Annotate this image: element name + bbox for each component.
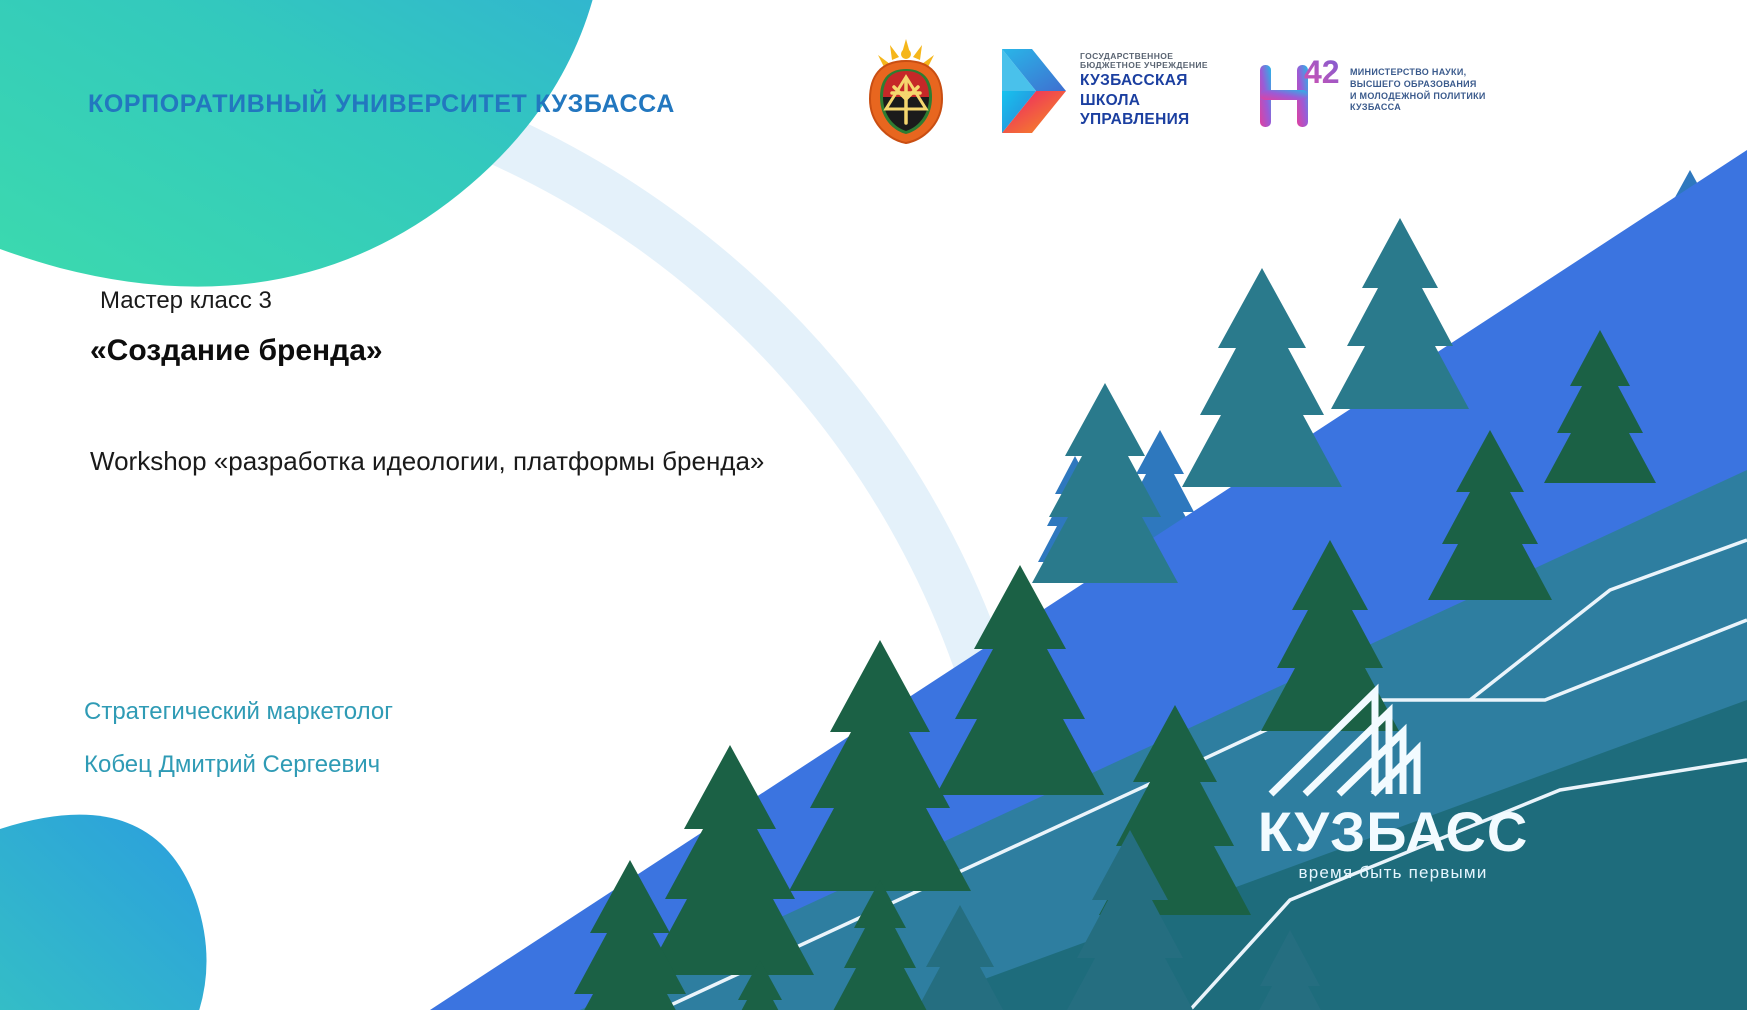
- mountain-peak-icon: [1271, 692, 1417, 794]
- school-name-line1: КУЗБАССКАЯ: [1080, 73, 1208, 89]
- slope-teal-band: [580, 470, 1747, 1010]
- school-name-line3: УПРАВЛЕНИЯ: [1080, 112, 1208, 128]
- coat-of-arms-icon: [860, 37, 952, 145]
- masterclass-label: Мастер класс 3: [100, 287, 272, 315]
- decor-arc: [0, 60, 1030, 1010]
- kuzbass-brand-logo: КУЗБАСС время быть первыми: [1243, 676, 1543, 891]
- chevron-mark-icon: [1000, 45, 1070, 137]
- ministry-line1: МИНИСТЕРСТВО НАУКИ,: [1350, 67, 1486, 79]
- decor-blob-top: [0, 0, 608, 287]
- h42-mark-icon: 42: [1256, 51, 1340, 131]
- kuzbass-school-logo: ГОСУДАРСТВЕННОЕ БЮДЖЕТНОЕ УЧРЕЖДЕНИЕ КУЗ…: [1000, 45, 1208, 137]
- decor-blob-bottom: [0, 815, 207, 1010]
- kuzbass-wordmark: КУЗБАСС: [1258, 800, 1529, 863]
- coat-of-arms-logo: [860, 37, 952, 145]
- ministry-line4: КУЗБАССА: [1350, 102, 1486, 114]
- ministry-line2: ВЫСШЕГО ОБРАЗОВАНИЯ: [1350, 79, 1486, 91]
- school-kicker-line2: БЮДЖЕТНОЕ УЧРЕЖДЕНИЕ: [1080, 61, 1208, 70]
- tree-cluster-teal: [1032, 218, 1469, 583]
- school-name-line2: ШКОЛА: [1080, 93, 1208, 109]
- svg-text:42: 42: [1304, 54, 1340, 90]
- slide-subtitle: Workshop «разработка идеологии, платформ…: [90, 443, 850, 480]
- logo-row: ГОСУДАРСТВЕННОЕ БЮДЖЕТНОЕ УЧРЕЖДЕНИЕ КУЗ…: [860, 28, 1730, 153]
- tree-cluster-green: [557, 330, 1656, 1010]
- tree-ridge-steel: [1038, 170, 1747, 588]
- page-title: КОРПОРАТИВНЫЙ УНИВЕРСИТЕТ КУЗБАССА: [88, 90, 675, 119]
- speaker-name: Кобец Дмитрий Сергеевич: [84, 751, 380, 779]
- tree-small-green: [719, 880, 927, 1010]
- ministry-line3: И МОЛОДЕЖНОЙ ПОЛИТИКИ: [1350, 91, 1486, 103]
- slope-bright-blue: [430, 150, 1747, 1010]
- speaker-role: Стратегический маркетолог: [84, 698, 393, 726]
- kuzbass-tagline: время быть первыми: [1298, 863, 1487, 882]
- presentation-slide: КОРПОРАТИВНЫЙ УНИВЕРСИТЕТ КУЗБАССА: [0, 0, 1747, 1010]
- slide-title: «Создание бренда»: [90, 334, 383, 368]
- slope-contour-lines: [660, 540, 1747, 1010]
- ministry-logo: 42 МИНИСТЕРСТВО НАУКИ, ВЫСШЕГО ОБРАЗОВАН…: [1256, 51, 1486, 131]
